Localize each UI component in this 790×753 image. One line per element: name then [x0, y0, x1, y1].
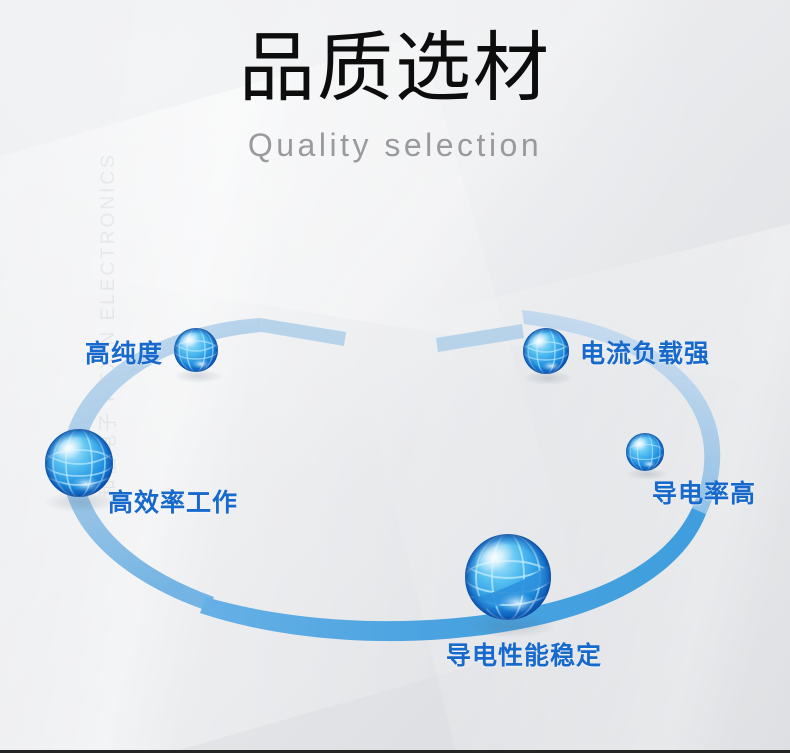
- promo-banner: 和信电子 HEXIN ELECTRONICS 品质选材 Quality sele…: [0, 0, 790, 753]
- node-label-stability: 导电性能稳定: [446, 636, 602, 672]
- node-label-purity: 高纯度: [85, 334, 163, 370]
- sphere-stability: [458, 534, 566, 638]
- ribbon-stub-top-left: [260, 318, 346, 346]
- sphere-efficiency: [44, 429, 118, 512]
- node-label-efficiency: 高效率工作: [108, 483, 238, 519]
- ribbon-arc-bottom: [200, 508, 706, 641]
- sphere-conductivity-rate: [626, 433, 668, 480]
- sphere-current-load: [523, 328, 573, 385]
- node-label-current-load: 电流负载强: [580, 334, 710, 370]
- node-label-conductivity-rate: 导电率高: [652, 474, 756, 510]
- orbit-diagram: [0, 0, 790, 753]
- ribbon-stub-top-right: [436, 324, 524, 352]
